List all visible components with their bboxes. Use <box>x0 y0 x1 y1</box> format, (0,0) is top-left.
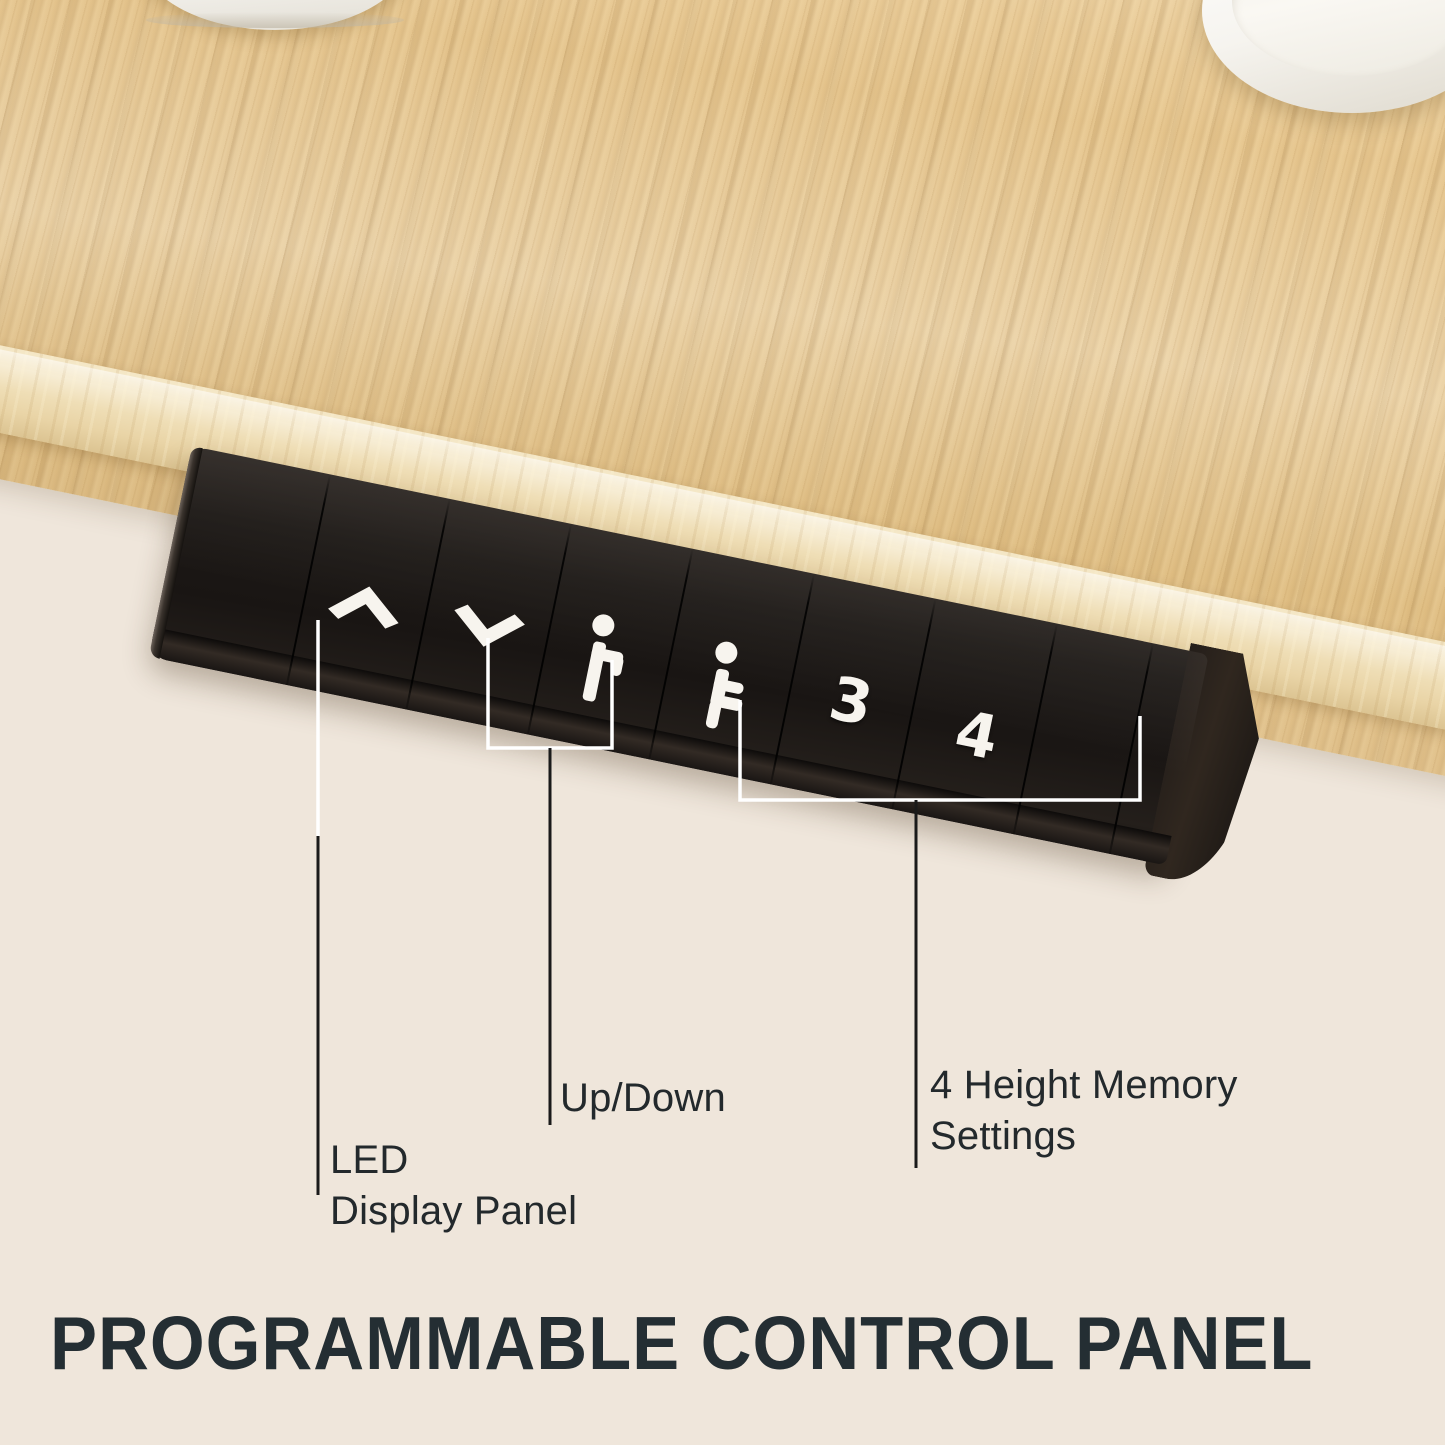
page-headline: PROGRAMMABLE CONTROL PANEL <box>50 1300 1313 1386</box>
coffee-set-right <box>1202 0 1445 250</box>
saucer-right <box>1202 0 1445 113</box>
control-panel[interactable]: 3 4 <box>149 446 1209 865</box>
control-panel-assembly: 3 4 <box>192 446 1272 876</box>
saucer-well <box>1232 0 1445 76</box>
callout-height-memory: 4 Height Memory Settings <box>930 1060 1238 1162</box>
product-image-stage: 3 4 LED Display Panel Up/Down 4 Height M… <box>0 0 1445 1445</box>
callout-led-display-panel: LED Display Panel <box>330 1135 577 1237</box>
led-display-segment[interactable] <box>170 484 318 646</box>
saucer-rim <box>146 12 404 28</box>
callout-up-down: Up/Down <box>560 1073 726 1124</box>
